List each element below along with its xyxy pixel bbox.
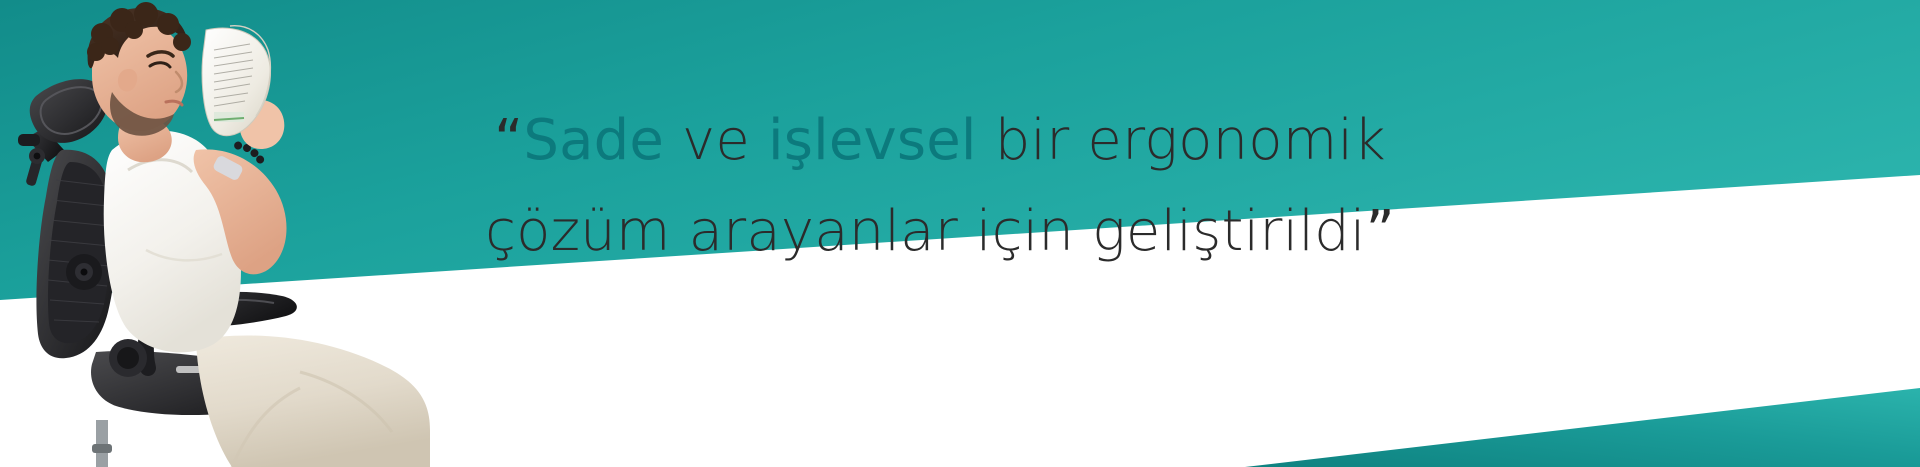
quote-block: “Sade ve işlevsel bir ergonomik çözüm ar… [440,96,1440,277]
promo-banner: “Sade ve işlevsel bir ergonomik çözüm ar… [0,0,1920,467]
person-legs [196,335,430,467]
chair-tilt-knob [109,339,147,377]
closing-quote-mark: ” [1366,199,1395,264]
quote-plain-ve: ve [664,108,768,173]
hero-photo [0,0,430,467]
man-on-ergonomic-chair-illustration [0,0,430,467]
quote-accent-sade: Sade [523,108,664,173]
quote-line-2: çözüm arayanlar için geliştirildi” [440,187,1440,278]
chair-backrest [36,150,115,358]
quote-accent-islevsel: işlevsel [768,108,977,173]
quote-line-2-text: çözüm arayanlar için geliştirildi [485,199,1366,264]
teal-diagonal-band-bottom-right [1245,388,1920,467]
quote-line-1: “Sade ve işlevsel bir ergonomik [440,96,1440,187]
quote-plain-bir-ergonomik: bir ergonomik [977,108,1386,173]
chair-base [92,420,112,467]
opening-quote-mark: “ [494,108,523,173]
